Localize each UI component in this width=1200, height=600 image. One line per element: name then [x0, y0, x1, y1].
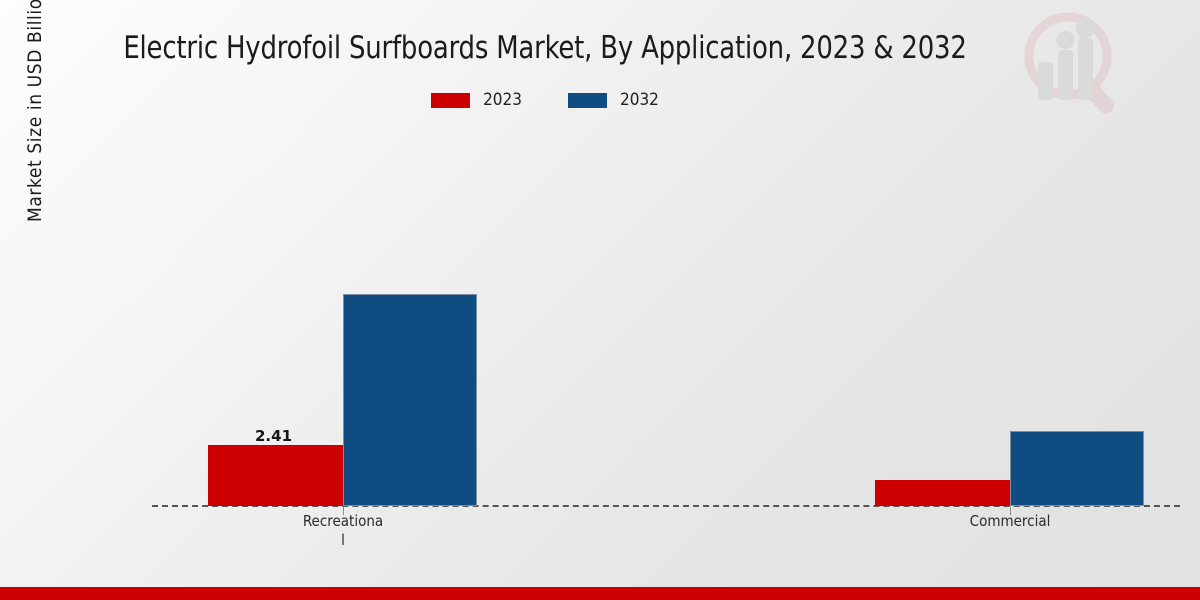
- x-axis-label-recreational-line2: l: [243, 531, 443, 550]
- x-axis-label-recreational-line1: Recreationa: [243, 512, 443, 531]
- x-axis-label-commercial-line1: Commercial: [910, 512, 1110, 531]
- x-axis-label-recreational: Recreationa l: [243, 512, 443, 550]
- footer-accent-band: [0, 587, 1200, 600]
- bar-commercial-2023[interactable]: [875, 480, 1010, 506]
- chart-container: Electric Hydrofoil Surfboards Market, By…: [0, 0, 1200, 600]
- bar-value-label-recreational-2023: 2.41: [255, 427, 292, 445]
- plot-area: 2.41 Recreationa l Commercial: [0, 0, 1200, 600]
- x-axis-label-commercial: Commercial: [910, 512, 1110, 531]
- bar-commercial-2032[interactable]: [1010, 431, 1144, 506]
- bar-recreational-2032[interactable]: [343, 294, 477, 506]
- bar-recreational-2023[interactable]: [208, 445, 343, 506]
